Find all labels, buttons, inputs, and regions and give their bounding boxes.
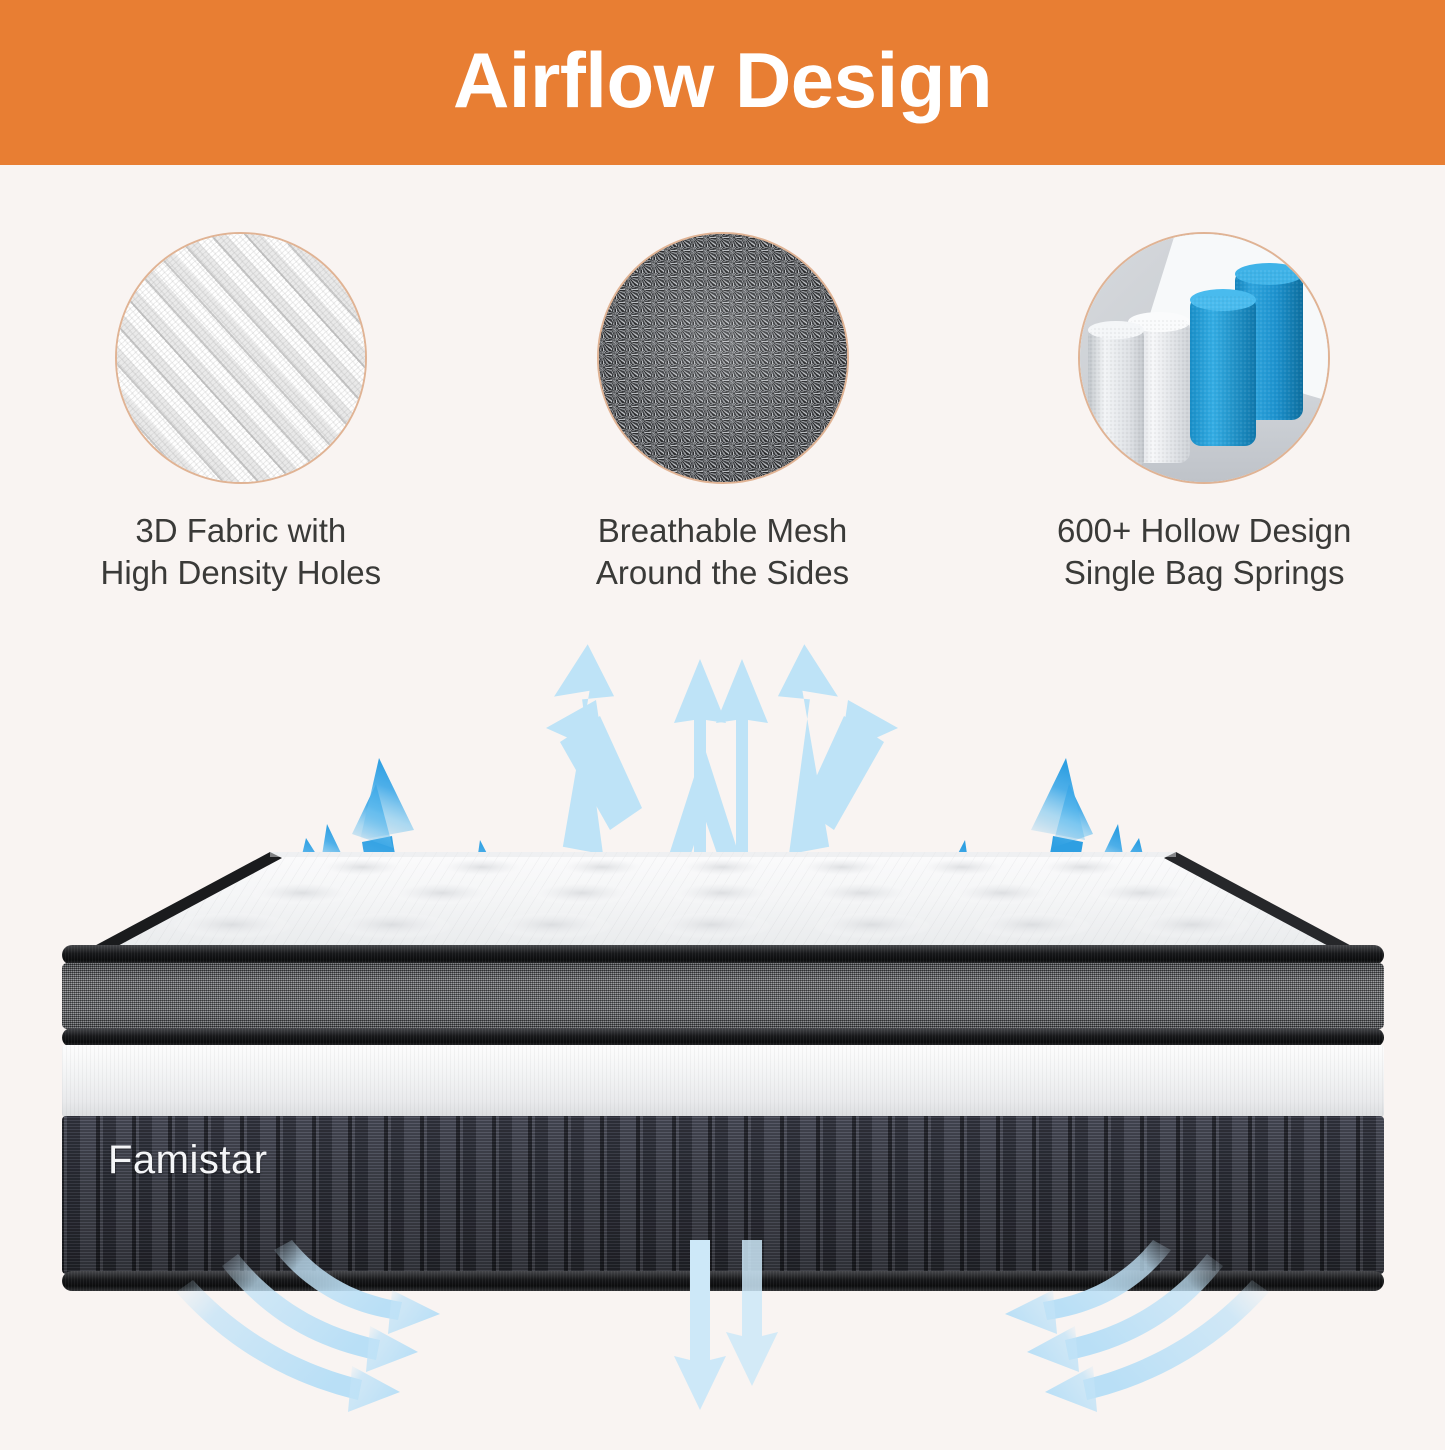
feature-item-3d-fabric: 3D Fabric with High Density Holes (0, 232, 482, 602)
mattress-white-band (62, 1045, 1384, 1117)
mattress-top-piping (62, 945, 1384, 965)
mattress-product-image: Famistar (62, 840, 1384, 1295)
brand-logo: Famistar (108, 1138, 268, 1183)
feature-row: 3D Fabric with High Density Holes Breath… (0, 232, 1445, 602)
feature-item-breathable-mesh: Breathable Mesh Around the Sides (482, 232, 964, 602)
mattress-bottom-piping (62, 1271, 1384, 1291)
pocket-spring-coils-icon (1078, 232, 1330, 484)
page-title: Airflow Design (453, 41, 992, 119)
feature-item-pocket-springs: 600+ Hollow Design Single Bag Springs (963, 232, 1445, 602)
center-arrow-group (526, 641, 866, 861)
feature-caption: Breathable Mesh Around the Sides (596, 510, 849, 594)
feature-caption: 3D Fabric with High Density Holes (101, 510, 382, 594)
header-banner: Airflow Design (0, 0, 1445, 165)
quilted-3d-fabric-swatch-icon (115, 232, 367, 484)
mattress-breathable-mesh-band (62, 963, 1384, 1029)
feature-caption: 600+ Hollow Design Single Bag Springs (1057, 510, 1351, 594)
breathable-mesh-swatch-icon (597, 232, 849, 484)
